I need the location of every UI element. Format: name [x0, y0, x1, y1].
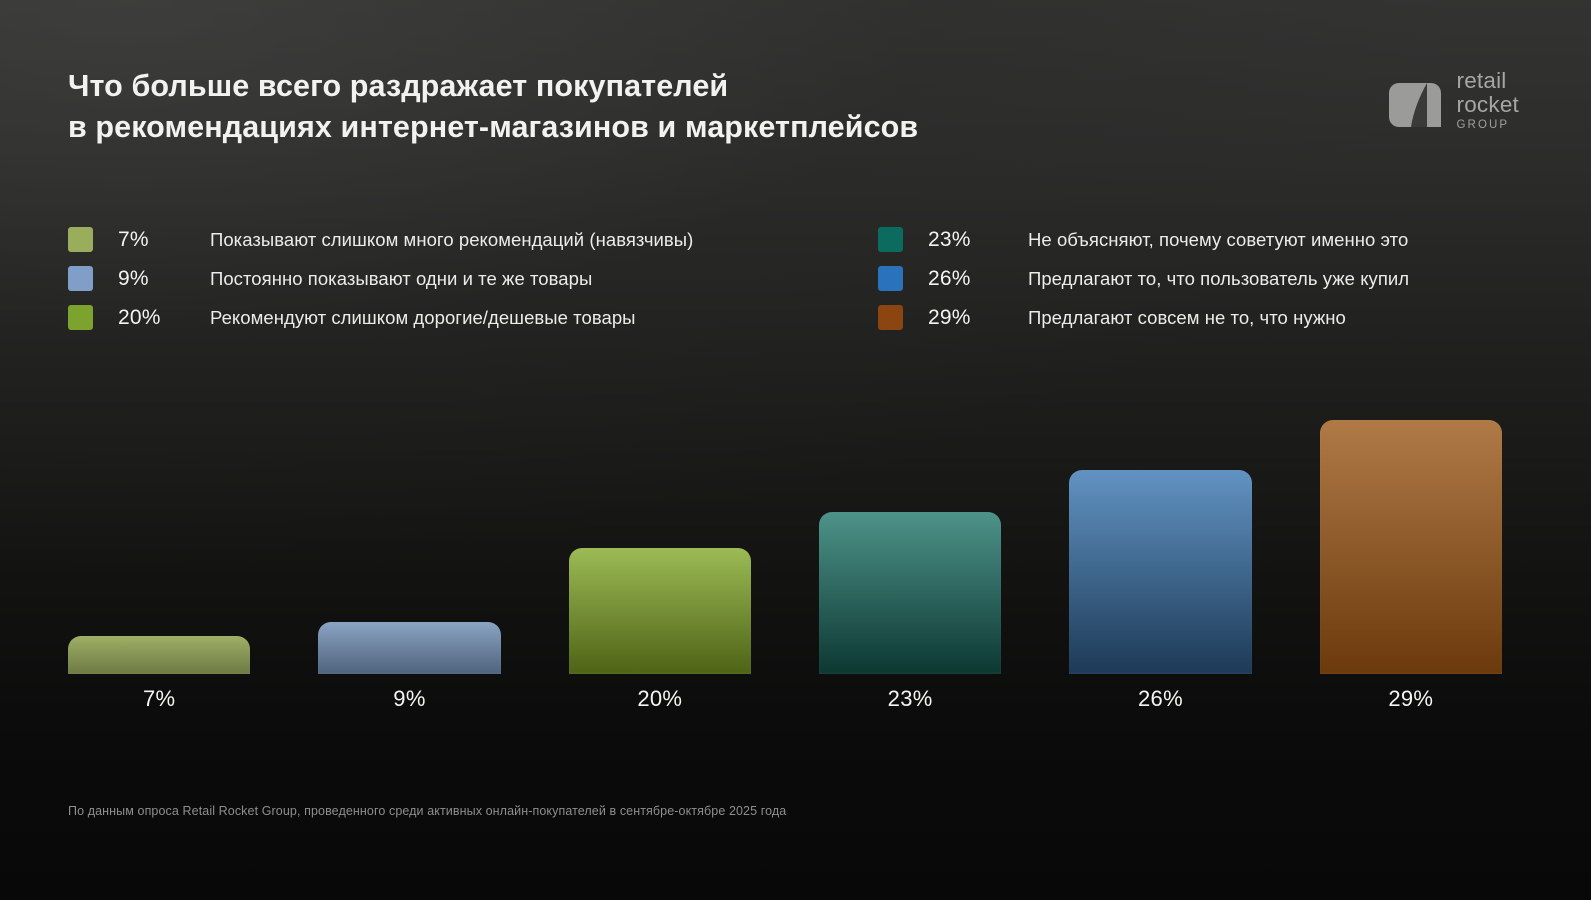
- logo-word-group: GROUP: [1457, 120, 1519, 132]
- legend-percent: 29%: [928, 306, 1028, 330]
- legend-item: 23% Не объясняют, почему советуют именно…: [878, 228, 1523, 251]
- legend-item: 7% Показывают слишком много рекомендаций…: [68, 228, 878, 251]
- bar-29: [1320, 420, 1502, 674]
- logo-word-retail: retail: [1457, 69, 1519, 93]
- legend-column-left: 7% Показывают слишком много рекомендаций…: [68, 228, 878, 329]
- legend-label: Не объясняют, почему советуют именно это: [1028, 229, 1408, 251]
- x-axis-label: 23%: [819, 686, 1001, 712]
- bar-7: [68, 636, 250, 674]
- bar-9: [318, 622, 500, 674]
- legend-item: 20% Рекомендуют слишком дорогие/дешевые …: [68, 306, 878, 329]
- legend-swatch-icon: [878, 227, 903, 252]
- brand-logo: retail rocket GROUP: [1385, 69, 1519, 132]
- legend-percent: 20%: [118, 306, 210, 330]
- legend-swatch-icon: [68, 266, 93, 291]
- bar-23: [819, 512, 1001, 674]
- legend-label: Постоянно показывают одни и те же товары: [210, 268, 592, 290]
- bar-slot: [819, 398, 1001, 674]
- bar-chart: [68, 398, 1502, 674]
- x-axis-label: 9%: [318, 686, 500, 712]
- x-axis-label: 20%: [569, 686, 751, 712]
- bar-slot: [569, 398, 751, 674]
- legend-percent: 23%: [928, 228, 1028, 252]
- legend-percent: 9%: [118, 267, 210, 291]
- legend-percent: 7%: [118, 228, 210, 252]
- legend-swatch-icon: [878, 266, 903, 291]
- infographic-poster: Что больше всего раздражает покупателей …: [0, 0, 1591, 900]
- source-note: По данным опроса Retail Rocket Group, пр…: [68, 804, 786, 818]
- bar-chart-plot-area: [68, 398, 1502, 674]
- legend-item: 26% Предлагают то, что пользователь уже …: [878, 267, 1523, 290]
- bar-slot: [68, 398, 250, 674]
- legend: 7% Показывают слишком много рекомендаций…: [68, 228, 1523, 329]
- legend-swatch-icon: [68, 227, 93, 252]
- x-axis-labels: 7% 9% 20% 23% 26% 29%: [68, 686, 1502, 712]
- x-axis-label: 26%: [1069, 686, 1251, 712]
- legend-percent: 26%: [928, 267, 1028, 291]
- bar-20: [569, 548, 751, 674]
- legend-label: Предлагают совсем не то, что нужно: [1028, 307, 1346, 329]
- logo-wordmark: retail rocket GROUP: [1457, 69, 1519, 132]
- bar-slot: [1069, 398, 1251, 674]
- legend-item: 29% Предлагают совсем не то, что нужно: [878, 306, 1523, 329]
- logo-word-rocket: rocket: [1457, 93, 1519, 117]
- legend-swatch-icon: [878, 305, 903, 330]
- x-axis-label: 29%: [1320, 686, 1502, 712]
- legend-label: Показывают слишком много рекомендаций (н…: [210, 229, 693, 251]
- bar-slot: [1320, 398, 1502, 674]
- legend-label: Рекомендуют слишком дорогие/дешевые това…: [210, 307, 636, 329]
- x-axis-label: 7%: [68, 686, 250, 712]
- legend-label: Предлагают то, что пользователь уже купи…: [1028, 268, 1409, 290]
- bar-slot: [318, 398, 500, 674]
- retail-rocket-mark-icon: [1385, 71, 1445, 129]
- bar-26: [1069, 470, 1251, 674]
- page-title: Что больше всего раздражает покупателей …: [68, 66, 1068, 148]
- legend-swatch-icon: [68, 305, 93, 330]
- legend-item: 9% Постоянно показывают одни и те же тов…: [68, 267, 878, 290]
- legend-column-right: 23% Не объясняют, почему советуют именно…: [878, 228, 1523, 329]
